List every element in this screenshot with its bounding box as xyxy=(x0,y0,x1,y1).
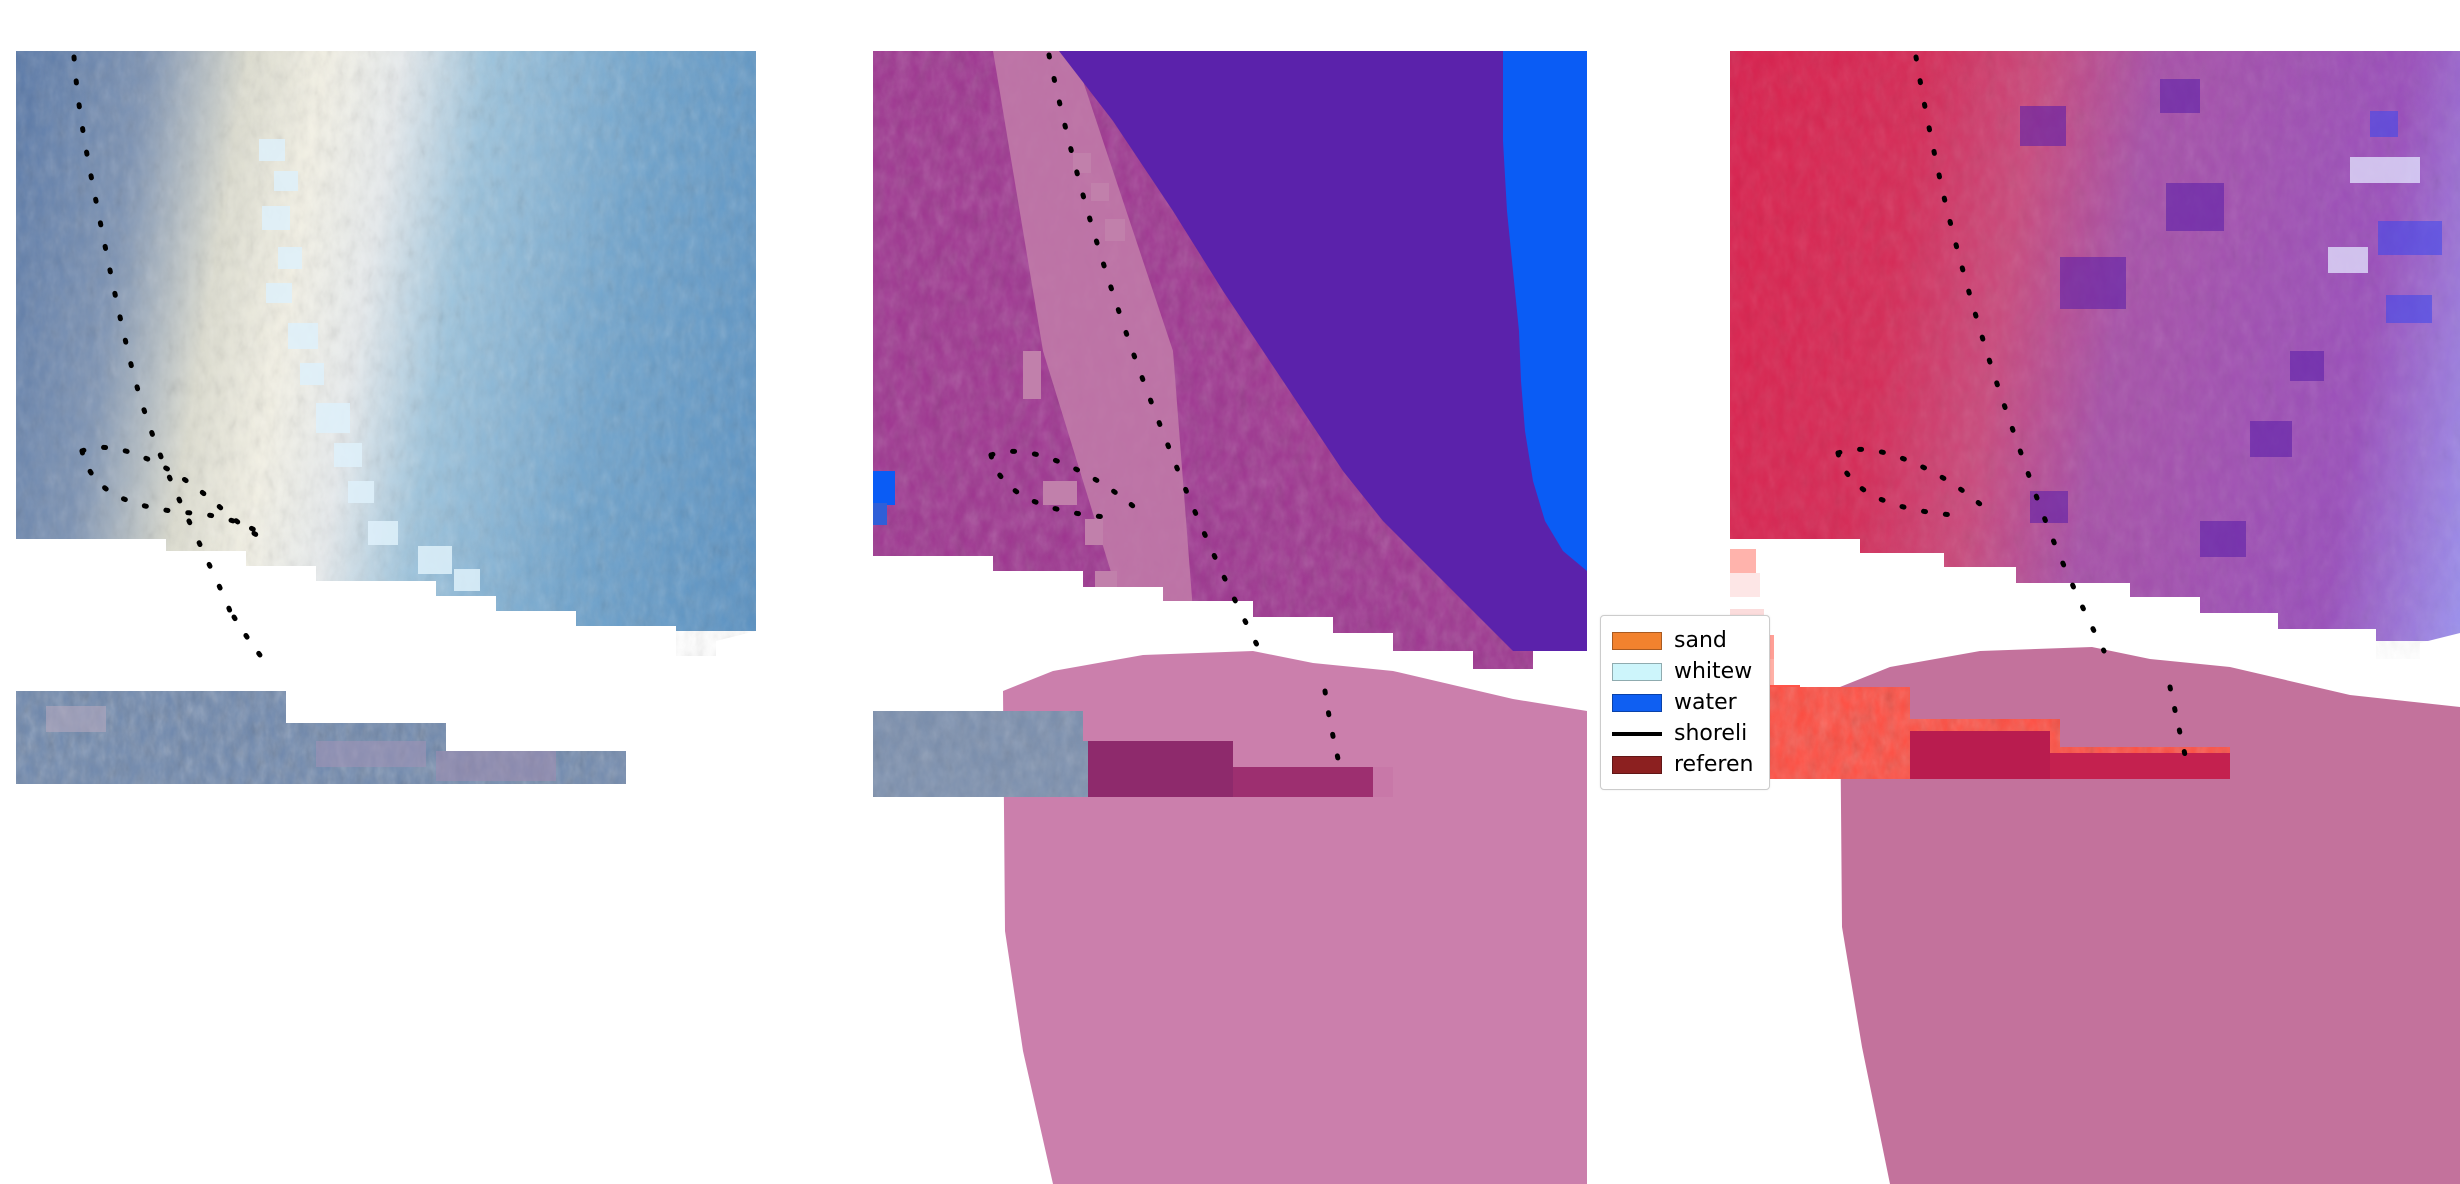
shoreline-swatch xyxy=(1612,732,1662,736)
legend-item-water[interactable]: water xyxy=(1612,687,1759,718)
satellite-image-l7[interactable]: L7 xyxy=(1730,51,2460,1184)
l7-raster xyxy=(1730,51,2460,1184)
whitewater-swatch xyxy=(1612,663,1662,681)
legend-label-sand: sand xyxy=(1674,630,1727,652)
sar-raster xyxy=(16,51,756,1184)
legend-item-sand[interactable]: sand xyxy=(1612,625,1759,656)
legend-label-water: water xyxy=(1674,692,1737,714)
reference-overlay-classified xyxy=(1003,651,1587,1184)
water-swatch xyxy=(1612,694,1662,712)
legend-item-shoreline[interactable]: shoreli xyxy=(1612,718,1759,749)
legend-label-shoreline: shoreli xyxy=(1674,723,1747,745)
satellite-image-sar[interactable]: sar1515 xyxy=(16,51,756,1184)
satellite-image-classified[interactable]: 2015-01-05-09-58-30 xyxy=(873,51,1587,1184)
legend-label-whitewater: whitew xyxy=(1674,661,1752,683)
class-legend[interactable]: sand whitew water shoreli referen xyxy=(1600,615,1770,790)
reference-swatch xyxy=(1612,756,1662,774)
legend-item-reference[interactable]: referen xyxy=(1612,749,1759,780)
legend-item-whitewater[interactable]: whitew xyxy=(1612,656,1759,687)
classified-raster xyxy=(873,51,1587,1184)
figure-canvas: sar1515 xyxy=(0,0,2460,1184)
legend-label-reference: referen xyxy=(1674,754,1753,776)
sand-swatch xyxy=(1612,632,1662,650)
